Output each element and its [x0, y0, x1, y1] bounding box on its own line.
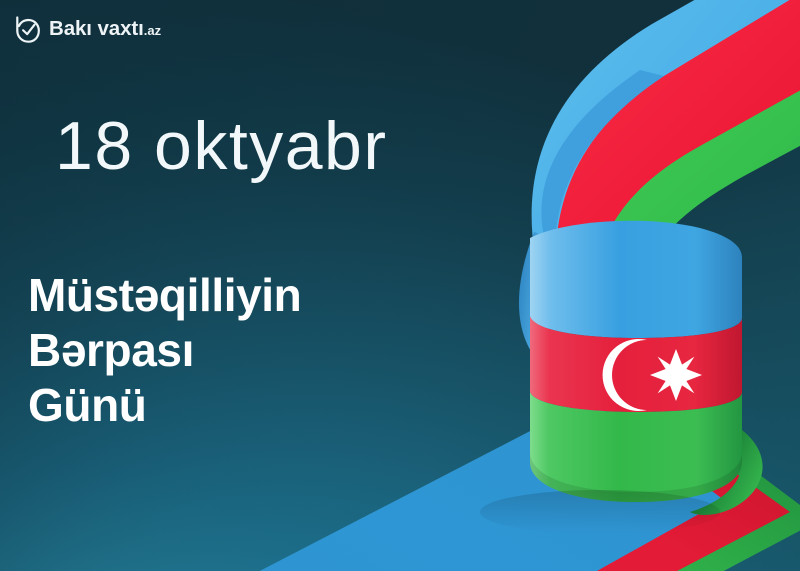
subtitle-block: Müstəqilliyin Bərpası Günü: [28, 268, 301, 434]
page-title-date: 18 oktyabr: [55, 112, 388, 180]
subtitle-line-2: Bərpası: [28, 323, 301, 378]
check-circle-icon: [12, 14, 42, 44]
poster-canvas: Bakı vaxtı.az 18 oktyabr Müstəqilliyin B…: [0, 0, 800, 571]
subtitle-line-3: Günü: [28, 378, 301, 433]
ribbon-upper-band: [532, 0, 800, 300]
crescent-icon: [603, 339, 647, 411]
eight-pointed-star-icon: [650, 349, 702, 401]
flag-cylinder: [530, 221, 763, 515]
flag-emblem: [603, 339, 702, 411]
site-logo[interactable]: Bakı vaxtı.az: [12, 14, 161, 44]
subtitle-line-1: Müstəqilliyin: [28, 268, 301, 323]
logo-name: Bakı vaxtı: [49, 17, 144, 40]
logo-wordmark: Bakı vaxtı.az: [49, 19, 161, 40]
logo-tld: .az: [144, 23, 161, 38]
headline-block: 18 oktyabr: [55, 112, 388, 180]
ribbon-top-fold: [519, 70, 664, 356]
